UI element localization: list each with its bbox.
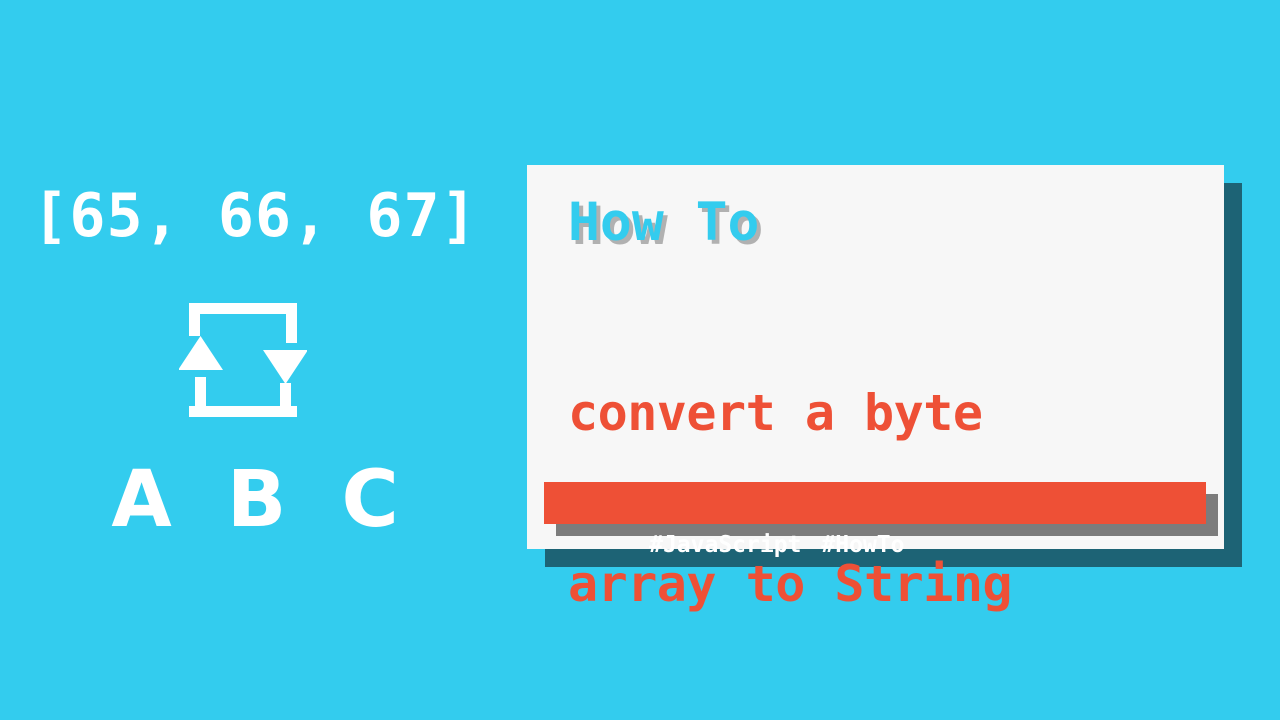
illustration-panel: [65, 66, 67] A B C — [0, 0, 510, 720]
card-title-line-1: convert a byte — [568, 385, 1012, 442]
string-label: A B C — [0, 461, 510, 539]
tag-howto[interactable]: #HowTo — [821, 532, 904, 558]
tag-javascript[interactable]: #JavaScript — [649, 532, 801, 558]
byte-array-label: [65, 66, 67] — [0, 186, 510, 246]
tag-bar: #JavaScript#HowTo — [544, 482, 1206, 524]
convert-loop-icon — [179, 303, 307, 417]
tag-list: #JavaScript#HowTo — [566, 482, 905, 524]
poster-canvas: [65, 66, 67] A B C — [0, 0, 1280, 720]
card-eyebrow: How To — [568, 196, 759, 249]
